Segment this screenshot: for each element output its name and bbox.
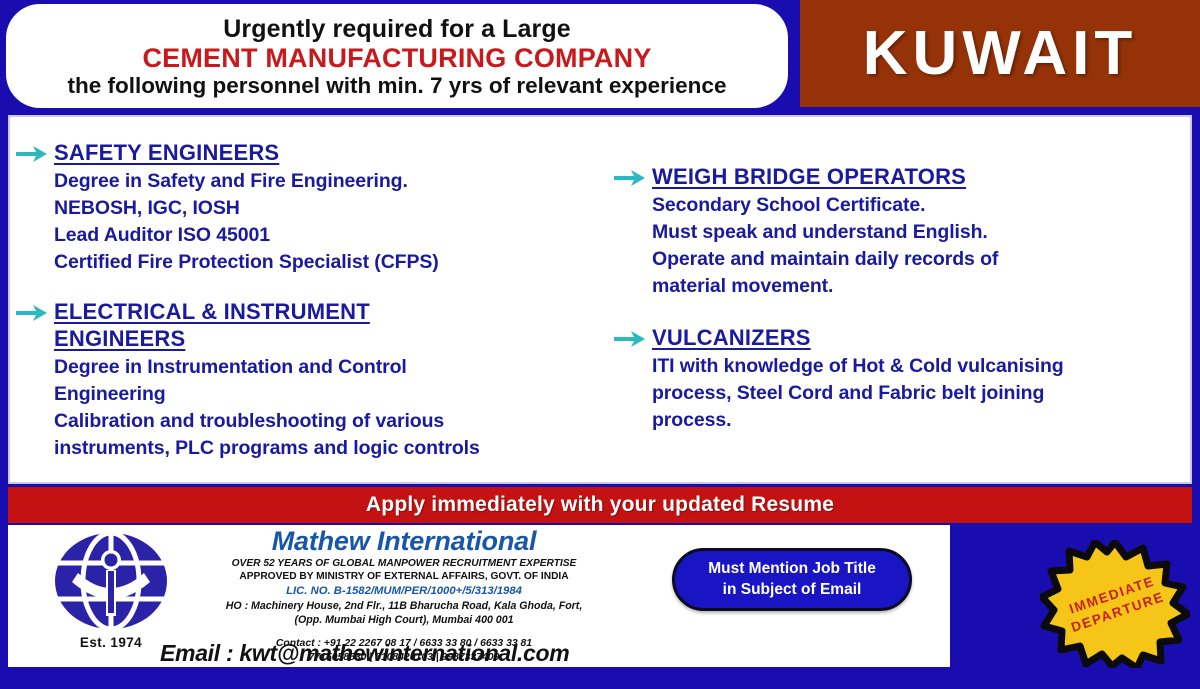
job-requirements: ITI with knowledge of Hot & Cold vulcani… [652, 353, 1194, 434]
apply-banner-text: Apply immediately with your updated Resu… [366, 493, 834, 517]
country-label: KUWAIT [863, 23, 1138, 85]
immediate-departure-badge: IMMEDIATE DEPARTURE [1040, 540, 1190, 668]
logo-established-year: Est. 1974 [80, 635, 142, 650]
job-requirement-line: process. [652, 407, 1194, 434]
job-title-note-line-1: Must Mention Job Title [708, 559, 876, 579]
jobs-panel: SAFETY ENGINEERS Degree in Safety and Fi… [8, 115, 1192, 484]
jobs-column-right: WEIGH BRIDGE OPERATORS Secondary School … [608, 117, 1194, 434]
job-requirement-line: NEBOSH, IGC, IOSH [54, 195, 610, 222]
headline-box: Urgently required for a Large CEMENT MAN… [6, 4, 788, 108]
headline-line-3: the following personnel with min. 7 yrs … [68, 73, 727, 98]
job-listing-electrical-instrument-engineers: ELECTRICAL & INSTRUMENT ENGINEERS Degree… [10, 298, 610, 462]
job-listing-weigh-bridge-operators: WEIGH BRIDGE OPERATORS Secondary School … [608, 163, 1194, 300]
job-requirement-line: Degree in Instrumentation and Control [54, 354, 610, 381]
company-email[interactable]: Email : kwt@mathewinternational.com [160, 640, 569, 667]
globe-logo-icon [48, 529, 174, 639]
company-tagline: OVER 52 YEARS OF GLOBAL MANPOWER RECRUIT… [204, 557, 604, 570]
job-title: SAFETY ENGINEERS [54, 140, 279, 165]
header-row: Urgently required for a Large CEMENT MAN… [0, 0, 1200, 112]
job-requirement-line: Certified Fire Protection Specialist (CF… [54, 249, 610, 276]
job-requirements: Degree in Safety and Fire Engineering. N… [54, 168, 610, 276]
jobs-column-left: SAFETY ENGINEERS Degree in Safety and Fi… [10, 117, 610, 462]
job-listing-vulcanizers: VULCANIZERS ITI with knowledge of Hot & … [608, 324, 1194, 434]
job-requirement-line: Operate and maintain daily records of [652, 246, 1194, 273]
job-requirement-line: material movement. [652, 273, 1194, 300]
job-requirement-line: Engineering [54, 381, 610, 408]
starburst-icon [1040, 540, 1190, 668]
job-requirements: Degree in Instrumentation and Control En… [54, 354, 610, 462]
job-title-note-line-2: in Subject of Email [723, 580, 862, 600]
job-title: WEIGH BRIDGE OPERATORS [652, 164, 966, 189]
company-address-line-1: HO : Machinery House, 2nd Flr., 11B Bhar… [204, 599, 604, 613]
arrow-right-icon [614, 168, 648, 188]
arrow-right-icon [16, 144, 50, 164]
company-name: Mathew International [204, 527, 604, 557]
job-requirement-line: Lead Auditor ISO 45001 [54, 222, 610, 249]
job-requirement-line: Secondary School Certificate. [652, 192, 1194, 219]
arrow-right-icon [16, 303, 50, 323]
job-requirement-line: instruments, PLC programs and logic cont… [54, 435, 610, 462]
job-requirement-line: process, Steel Cord and Fabric belt join… [652, 380, 1194, 407]
country-banner: KUWAIT [800, 0, 1200, 107]
job-requirement-line: Calibration and troubleshooting of vario… [54, 408, 610, 435]
job-title: VULCANIZERS [652, 325, 811, 350]
company-licence-number: LIC. NO. B-1582/MUM/PER/1000+/5/313/1984 [204, 584, 604, 600]
company-approval: APPROVED BY MINISTRY OF EXTERNAL AFFAIRS… [204, 570, 604, 583]
job-title-note-badge: Must Mention Job Title in Subject of Ema… [672, 548, 912, 611]
headline-company-name: CEMENT MANUFACTURING COMPANY [142, 43, 651, 73]
job-listing-safety-engineers: SAFETY ENGINEERS Degree in Safety and Fi… [10, 139, 610, 276]
job-requirements: Secondary School Certificate. Must speak… [652, 192, 1194, 300]
headline-line-1: Urgently required for a Large [223, 16, 570, 43]
job-requirement-line: Must speak and understand English. [652, 219, 1194, 246]
arrow-right-icon [614, 329, 648, 349]
job-requirement-line: Degree in Safety and Fire Engineering. [54, 168, 610, 195]
company-address-line-2: (Opp. Mumbai High Court), Mumbai 400 001 [204, 613, 604, 627]
apply-banner: Apply immediately with your updated Resu… [8, 487, 1192, 523]
job-title: ELECTRICAL & INSTRUMENT ENGINEERS [54, 298, 454, 353]
job-requirement-line: ITI with knowledge of Hot & Cold vulcani… [652, 353, 1194, 380]
